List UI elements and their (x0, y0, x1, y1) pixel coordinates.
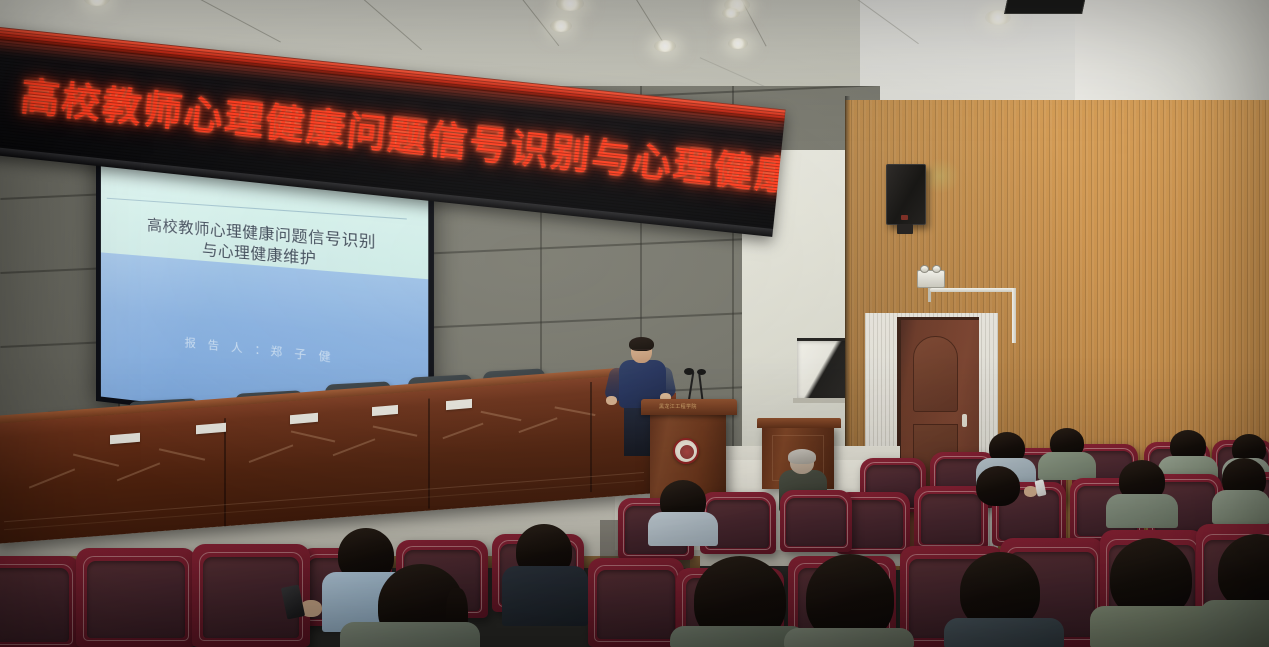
emergency-lamp-right (932, 265, 941, 273)
audience-seat[interactable] (588, 558, 684, 647)
wall-conduit-vertical (1012, 288, 1016, 343)
ceiling-downlight (722, 8, 740, 18)
wall-conduit-horizontal (930, 288, 1016, 292)
lecture-hall-photo: 高校教师心理健康问题信号识别 与心理健康维护 报 告 人 ：郑 子 健 高校教师… (0, 0, 1269, 647)
door-panel-upper (913, 336, 958, 412)
front-attendee-hair (788, 449, 816, 464)
emergency-light-icon (917, 270, 945, 288)
ceiling-downlight (728, 38, 748, 49)
door-handle-icon[interactable] (962, 414, 967, 427)
ceiling-air-vent (1004, 0, 1086, 14)
university-seal-icon (673, 438, 699, 464)
ceiling-downlight (550, 20, 572, 32)
speaker-bracket (897, 224, 913, 234)
presenter-glasses-icon (632, 349, 651, 353)
emergency-lamp-left (920, 265, 929, 273)
audience-seat[interactable] (76, 548, 196, 647)
side-cabinet-top (757, 418, 841, 428)
audience-seat[interactable] (0, 556, 80, 647)
ceiling-downlight (654, 40, 676, 52)
podium-nameplate: 黑龙江工程学院 (659, 403, 697, 410)
microphone-icon (684, 368, 694, 375)
microphone-icon-2 (697, 369, 706, 375)
presenter-left-hand (606, 396, 617, 405)
speaker-wall-glow (920, 158, 960, 194)
audience-seat[interactable] (780, 490, 852, 552)
wall-speaker-icon (886, 164, 926, 225)
